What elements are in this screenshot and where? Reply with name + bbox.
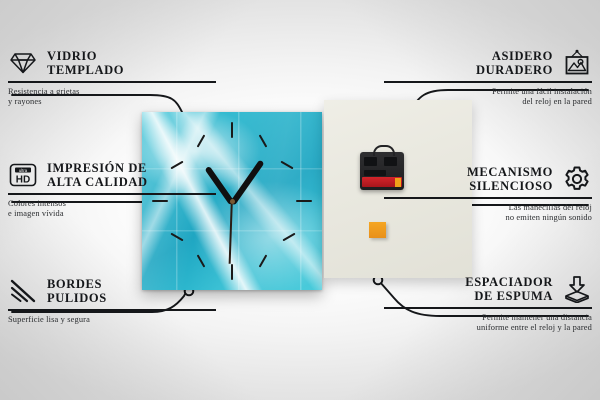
gear-icon	[562, 164, 592, 194]
feature-subtitle: Superficie lisa y segura	[8, 315, 216, 325]
diagonal-lines-icon	[8, 276, 38, 306]
feature-subtitle: Permite una fácil instalación del reloj …	[384, 87, 592, 108]
feature-subtitle: Resistencia a grietas y rayones	[8, 87, 216, 108]
infographic-canvas: VIDRIO TEMPLADO Resistencia a grietas y …	[0, 0, 600, 400]
tick-6	[231, 264, 233, 280]
wall-hanger-hook-icon	[373, 145, 395, 156]
feature-title: MECANISMO SILENCIOSO	[467, 165, 553, 194]
hanging-picture-frame-icon	[562, 48, 592, 78]
movement-slot-mid	[364, 170, 386, 176]
feature-divider	[384, 81, 592, 83]
feature-title: ASIDERO DURADERO	[476, 49, 553, 78]
tick-3	[296, 200, 312, 202]
feature-subtitle: Las manecillas del reloj no emiten ningú…	[384, 203, 592, 224]
feature-asidero-duradero: ASIDERO DURADERO Permite una fácil insta…	[384, 48, 592, 107]
tick-12	[231, 122, 233, 138]
feature-vidrio-templado: VIDRIO TEMPLADO Resistencia a grietas y …	[8, 48, 216, 107]
feature-divider	[384, 197, 592, 199]
svg-text:ultra: ultra	[19, 168, 28, 173]
feature-title: ESPACIADOR DE ESPUMA	[465, 275, 553, 304]
feature-divider	[8, 193, 216, 195]
movement-slot-left	[364, 157, 377, 166]
feature-title: IMPRESIÓN DE ALTA CALIDAD	[47, 161, 148, 190]
foam-spacer-pad	[369, 222, 386, 238]
arrow-down-pad-icon	[562, 274, 592, 304]
feature-divider	[8, 309, 216, 311]
svg-text:HD: HD	[16, 175, 30, 186]
ultra-hd-badge-icon: ultra HD	[8, 160, 38, 190]
feature-divider	[384, 307, 592, 309]
feature-header: VIDRIO TEMPLADO	[8, 48, 216, 78]
feature-espaciador-de-espuma: ESPACIADOR DE ESPUMA Permite mantener un…	[384, 274, 592, 333]
feature-title: VIDRIO TEMPLADO	[47, 49, 124, 78]
feature-header: MECANISMO SILENCIOSO	[384, 164, 592, 194]
feature-subtitle: Colores intensos e imagen vívida	[8, 199, 216, 220]
clock-center-cap	[230, 199, 235, 204]
feature-divider	[8, 81, 216, 83]
feature-mecanismo-silencioso: MECANISMO SILENCIOSO Las manecillas del …	[384, 164, 592, 223]
feature-header: ASIDERO DURADERO	[384, 48, 592, 78]
feature-header: BORDES PULIDOS	[8, 276, 216, 306]
feature-subtitle: Permite mantener una distancia uniforme …	[384, 313, 592, 334]
feature-header: ultra HD IMPRESIÓN DE ALTA CALIDAD	[8, 160, 216, 190]
feature-header: ESPACIADOR DE ESPUMA	[384, 274, 592, 304]
feature-title: BORDES PULIDOS	[47, 277, 107, 306]
diamond-icon	[8, 48, 38, 78]
feature-bordes-pulidos: BORDES PULIDOS Superficie lisa y segura	[8, 276, 216, 325]
feature-impresion-alta-calidad: ultra HD IMPRESIÓN DE ALTA CALIDAD Color…	[8, 160, 216, 219]
